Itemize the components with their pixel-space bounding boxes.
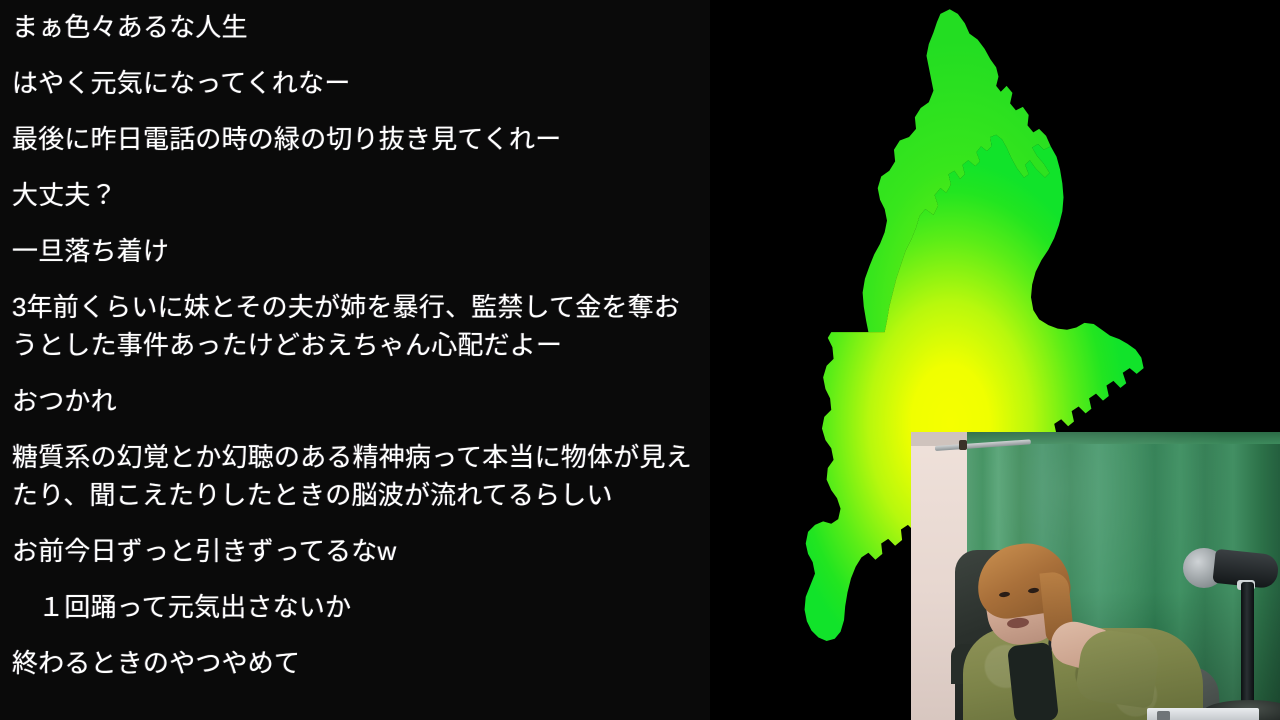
stream-overlay-stage: まぁ色々あるな人生 はやく元気になってくれなー 最後に昨日電話の時の緑の切り抜き… (0, 0, 1280, 720)
person-sleeve (1074, 627, 1161, 709)
curtain-rod-knob (959, 440, 967, 450)
comment-line: １回踊って元気出さないか (12, 588, 696, 626)
comment-item: 終わるときのやつやめて (12, 644, 696, 682)
comment-panel: まぁ色々あるな人生 はやく元気になってくれなー 最後に昨日電話の時の緑の切り抜き… (0, 0, 710, 720)
comment-item: はやく元気になってくれなー (12, 64, 696, 102)
microphone-stand-pole (1241, 582, 1254, 708)
comment-item: 大丈夫？ (12, 176, 696, 214)
comment-line: おつかれ (12, 382, 696, 420)
comment-item: お前今日ずっと引きずってるなw (12, 532, 696, 570)
comment-item: 3年前くらいに妹とその夫が姉を暴行、監禁して金を奪おうとした事件あったけどおえち… (12, 288, 696, 364)
webcam-overlay[interactable] (911, 432, 1280, 720)
comment-item: おつかれ (12, 382, 696, 420)
comment-line: はやく元気になってくれなー (12, 64, 696, 102)
comment-item: １回踊って元気出さないか (12, 588, 696, 626)
comment-item: 最後に昨日電話の時の緑の切り抜き見てくれー (12, 120, 696, 158)
comment-line: 3年前くらいに妹とその夫が姉を暴行、監禁して金を奪おうとした事件あったけどおえち… (12, 288, 696, 364)
comment-line: 一旦落ち着け (12, 232, 696, 270)
comment-line: 終わるときのやつやめて (12, 644, 696, 682)
comment-line: まぁ色々あるな人生 (12, 8, 696, 46)
comment-item: まぁ色々あるな人生 (12, 8, 696, 46)
desk-marking (1157, 711, 1170, 720)
comment-item: 糖質系の幻覚とか幻聴のある精神病って本当に物体が見えたり、聞こえたりしたときの脳… (12, 438, 696, 514)
comment-line: お前今日ずっと引きずってるなw (12, 532, 696, 570)
comment-line: 大丈夫？ (12, 176, 696, 214)
comment-line: 最後に昨日電話の時の緑の切り抜き見てくれー (12, 120, 696, 158)
comment-item: 一旦落ち着け (12, 232, 696, 270)
comment-line: 糖質系の幻覚とか幻聴のある精神病って本当に物体が見えたり、聞こえたりしたときの脳… (12, 438, 696, 514)
inner-shirt (1007, 642, 1059, 720)
